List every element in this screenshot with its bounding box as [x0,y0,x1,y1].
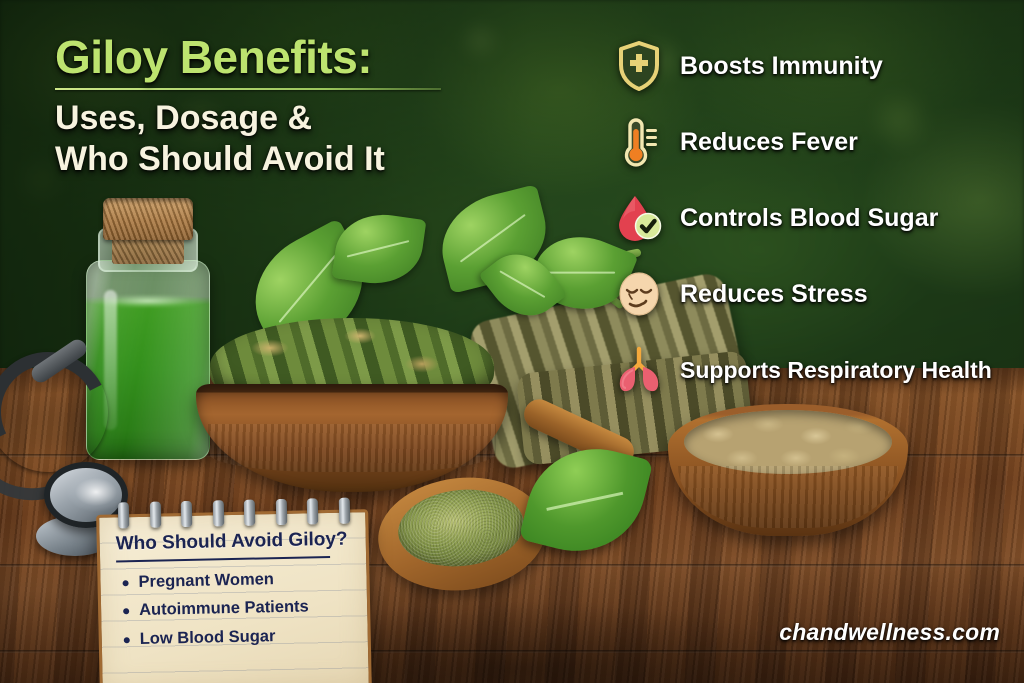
benefit-label: Controls Blood Sugar [680,204,938,233]
benefit-item-reduces-fever: Reduces Fever [612,104,1024,180]
page-title: Giloy Benefits: [55,34,525,81]
relieved-face-icon [612,267,666,321]
benefit-item-reduces-stress: Reduces Stress [612,256,1024,332]
benefit-item-supports-respiratory-health: Supports Respiratory Health [612,332,1024,408]
list-item: Low Blood Sugar [123,620,368,653]
bowl-of-tablets [668,404,908,540]
subtitle-line-1: Uses, Dosage & [55,98,525,139]
infographic-canvas: Giloy Benefits: Uses, Dosage & Who Shoul… [0,0,1024,683]
shield-plus-icon [612,39,666,93]
notepad-avoid-list: Pregnant Women Autoimmune Patients Low B… [122,563,368,653]
benefit-label: Boosts Immunity [680,52,883,81]
benefit-label: Supports Respiratory Health [680,357,992,384]
site-watermark: chandwellness.com [779,619,1000,646]
thermometer-icon [612,115,666,169]
benefit-item-boosts-immunity: Boosts Immunity [612,28,1024,104]
benefit-label: Reduces Fever [680,128,858,157]
title-underline [55,88,441,90]
benefit-item-controls-blood-sugar: Controls Blood Sugar [612,180,1024,256]
notepad: Who Should Avoid Giloy? Pregnant Women A… [96,509,372,683]
subtitle-line-2: Who Should Avoid It [55,139,525,180]
lungs-icon [612,343,666,397]
benefits-list: Boosts Immunity Reduces Fever [612,28,1024,408]
bowl-of-giloy-stems [196,318,508,492]
notepad-heading: Who Should Avoid Giloy? [116,528,366,555]
blood-drop-check-icon [612,191,666,245]
notepad-heading-underline [116,556,330,562]
page-subtitle: Uses, Dosage & Who Should Avoid It [55,98,525,181]
title-block: Giloy Benefits: Uses, Dosage & Who Shoul… [55,34,525,181]
cork-stopper [103,198,193,240]
benefit-label: Reduces Stress [680,280,868,309]
